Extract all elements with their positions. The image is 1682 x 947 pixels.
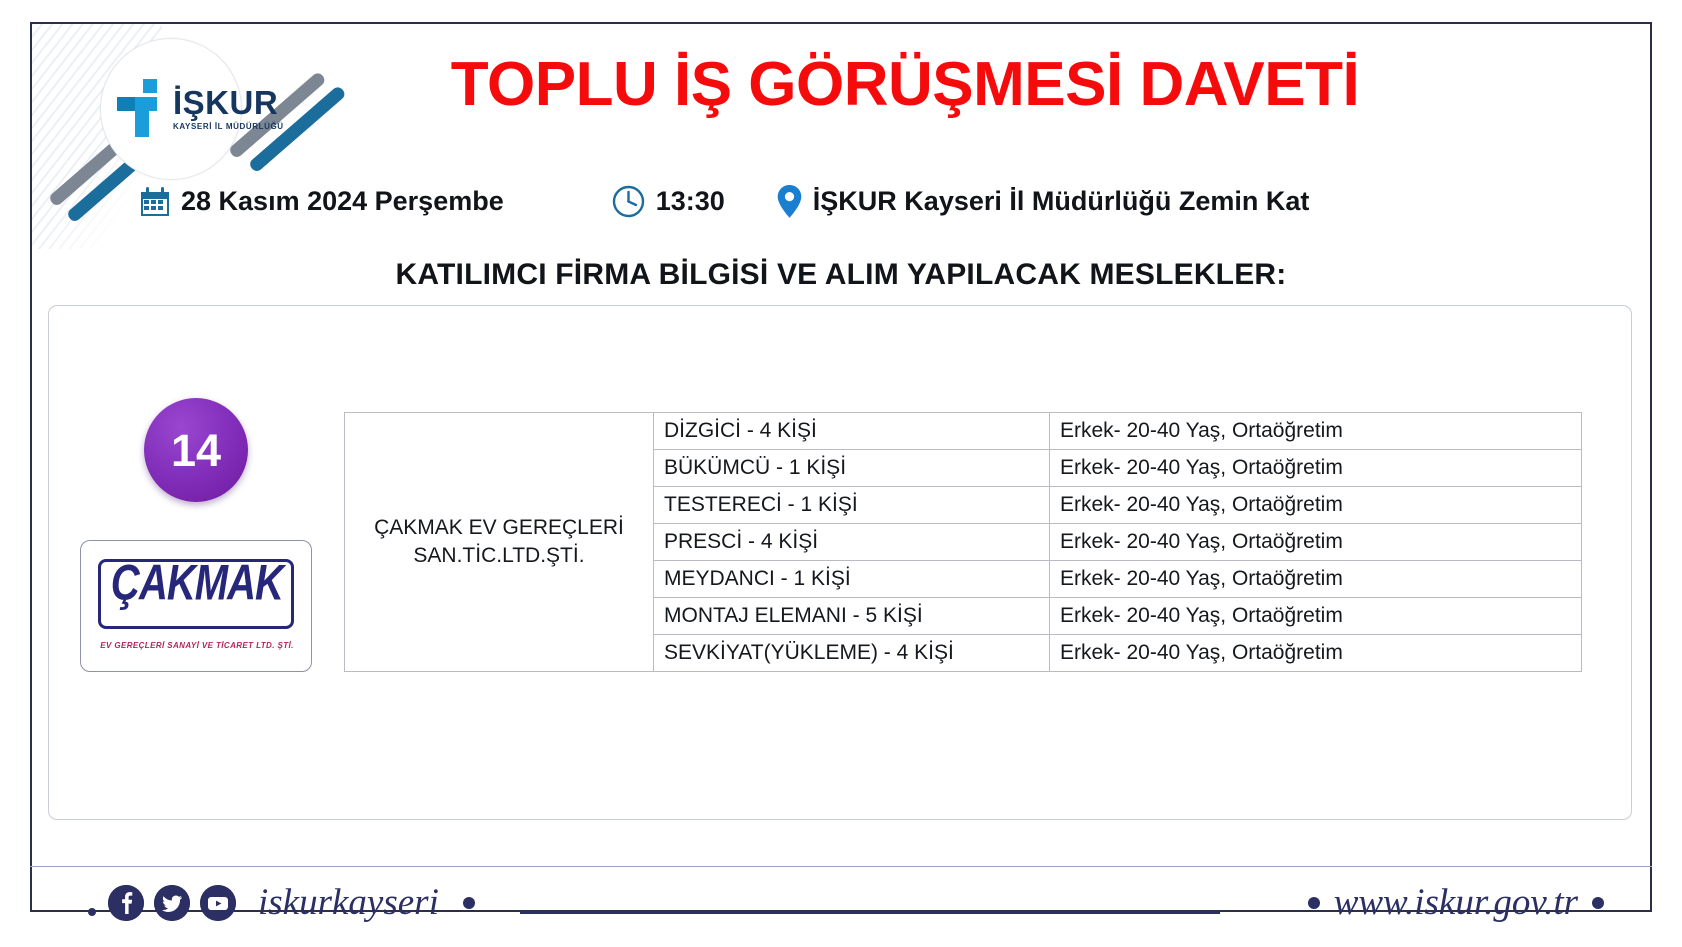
job-title-cell: PRESCİ - 4 KİŞİ (654, 524, 1050, 561)
map-pin-icon (777, 185, 802, 218)
iskur-logo-word: İŞKUR (173, 86, 284, 119)
company-name-line2: SAN.TİC.LTD.ŞTİ. (413, 544, 584, 567)
footer-rule (520, 911, 1220, 914)
section-subtitle: KATILIMCI FİRMA BİLGİSİ VE ALIM YAPILACA… (0, 258, 1682, 292)
job-title-cell: MONTAJ ELEMANI - 5 KİŞİ (654, 598, 1050, 635)
job-title-cell: TESTERECİ - 1 KİŞİ (654, 487, 1050, 524)
jobs-table: ÇAKMAK EV GEREÇLERİ SAN.TİC.LTD.ŞTİ. DİZ… (344, 412, 1582, 672)
company-name-line1: ÇAKMAK EV GEREÇLERİ (374, 516, 624, 539)
footer-dot-url-left (1308, 897, 1320, 909)
footer-divider (30, 866, 1652, 867)
job-title-cell: DİZGİCİ - 4 KİŞİ (654, 413, 1050, 450)
event-location: İŞKUR Kayseri İl Müdürlüğü Zemin Kat (777, 185, 1310, 218)
event-date: 28 Kasım 2024 Perşembe (140, 186, 504, 217)
job-requirement-cell: Erkek- 20-40 Yaş, Ortaöğretim (1050, 413, 1582, 450)
job-requirement-cell: Erkek- 20-40 Yaş, Ortaöğretim (1050, 487, 1582, 524)
event-time: 13:30 (612, 185, 725, 218)
poster-root: İŞKUR KAYSERİ İL MÜDÜRLÜĞÜ TOPLU İŞ GÖRÜ… (0, 0, 1682, 947)
job-requirement-cell: Erkek- 20-40 Yaş, Ortaöğretim (1050, 450, 1582, 487)
social-handle[interactable]: iskurkayseri (258, 884, 439, 921)
company-rank-number: 14 (171, 428, 221, 473)
company-name-cell: ÇAKMAK EV GEREÇLERİ SAN.TİC.LTD.ŞTİ. (345, 413, 654, 672)
job-requirement-cell: Erkek- 20-40 Yaş, Ortaöğretim (1050, 561, 1582, 598)
job-requirement-cell: Erkek- 20-40 Yaş, Ortaöğretim (1050, 635, 1582, 672)
event-date-text: 28 Kasım 2024 Perşembe (181, 186, 504, 217)
job-title-cell: SEVKİYAT(YÜKLEME) - 4 KİŞİ (654, 635, 1050, 672)
clock-icon (612, 185, 645, 218)
job-title-cell: BÜKÜMCÜ - 1 KİŞİ (654, 450, 1050, 487)
calendar-icon (140, 187, 170, 217)
footer-dot-url-right (1592, 897, 1604, 909)
iskur-logo-text: İŞKUR KAYSERİ İL MÜDÜRLÜĞÜ (173, 86, 284, 131)
footer-social: iskurkayseri (108, 884, 475, 921)
company-logo-text: ÇAKMAK (81, 558, 312, 608)
table-row: ÇAKMAK EV GEREÇLERİ SAN.TİC.LTD.ŞTİ. DİZ… (345, 413, 1582, 450)
facebook-icon[interactable] (108, 885, 144, 921)
job-requirement-cell: Erkek- 20-40 Yaş, Ortaöğretim (1050, 524, 1582, 561)
footer-website: www.iskur.gov.tr (1308, 884, 1604, 921)
page-title: TOPLU İŞ GÖRÜŞMESİ DAVETİ (390, 52, 1420, 117)
twitter-icon[interactable] (154, 885, 190, 921)
footer-dot-mid (463, 897, 475, 909)
job-title-cell: MEYDANCI - 1 KİŞİ (654, 561, 1050, 598)
iskur-logo-subtitle: KAYSERİ İL MÜDÜRLÜĞÜ (173, 122, 284, 131)
iskur-logo: İŞKUR KAYSERİ İL MÜDÜRLÜĞÜ (115, 58, 365, 158)
event-info-bar: 28 Kasım 2024 Perşembe 13:30 İŞKUR (140, 185, 1520, 218)
company-logo-tagline: EV GEREÇLERİ SANAYİ VE TİCARET LTD. ŞTİ. (81, 641, 312, 650)
company-rank-badge: 14 (144, 398, 248, 502)
job-requirement-cell: Erkek- 20-40 Yaş, Ortaöğretim (1050, 598, 1582, 635)
iskur-logo-icon (115, 77, 167, 139)
youtube-icon[interactable] (200, 885, 236, 921)
jobs-table-body: ÇAKMAK EV GEREÇLERİ SAN.TİC.LTD.ŞTİ. DİZ… (345, 413, 1582, 672)
event-time-text: 13:30 (656, 186, 725, 217)
company-logo: ÇAKMAK EV GEREÇLERİ SANAYİ VE TİCARET LT… (80, 540, 312, 672)
event-location-text: İŞKUR Kayseri İl Müdürlüğü Zemin Kat (813, 186, 1310, 217)
website-url[interactable]: www.iskur.gov.tr (1334, 884, 1578, 921)
footer-dot-left (88, 908, 96, 916)
